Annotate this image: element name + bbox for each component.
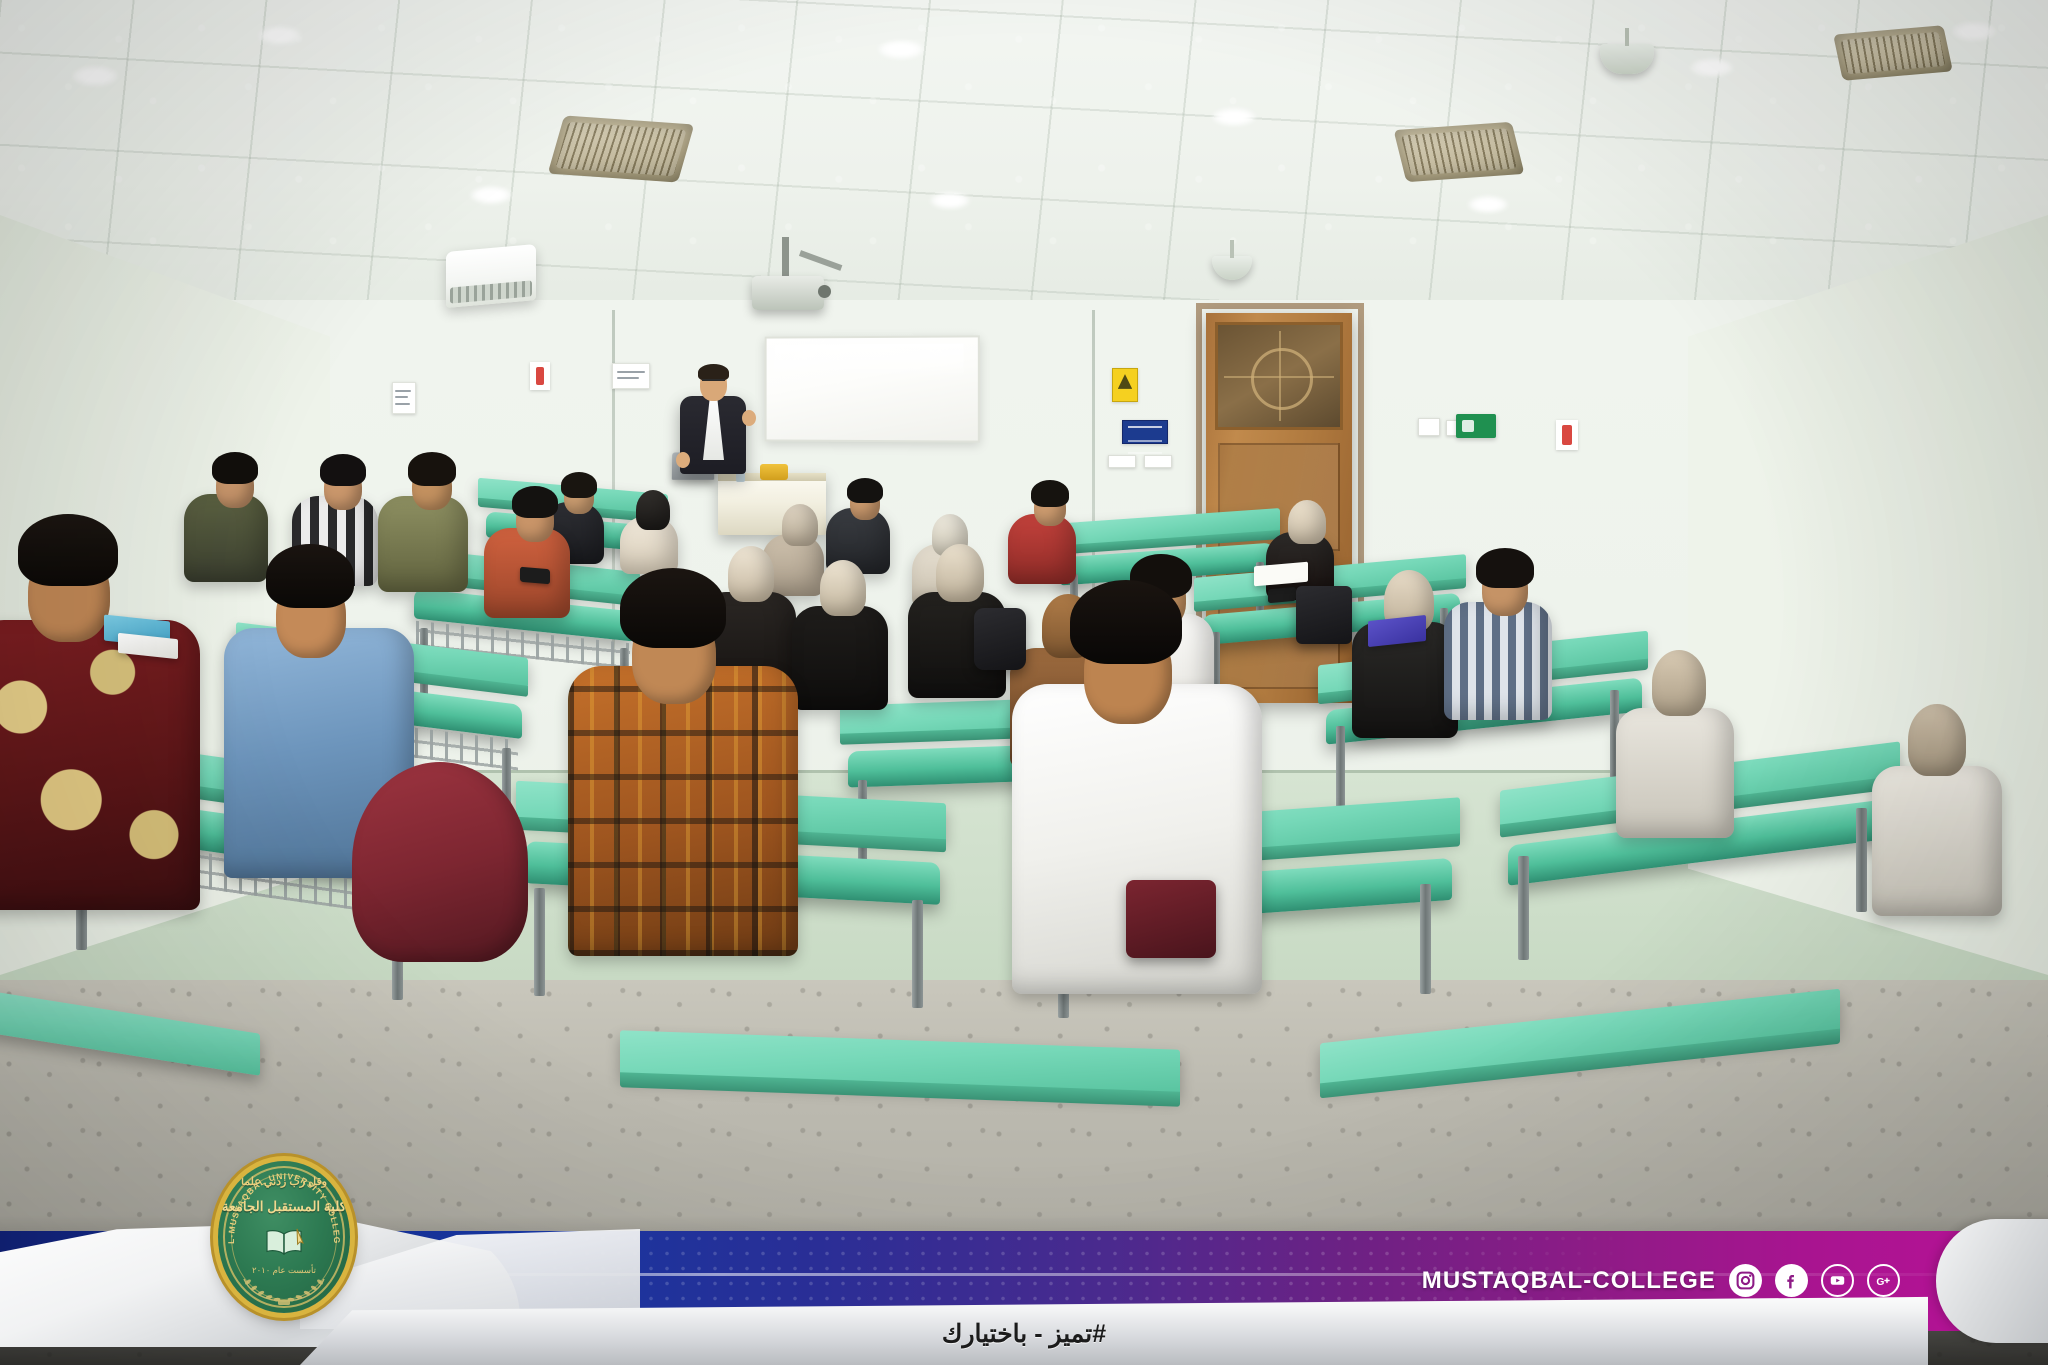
- ceiling-light: [1212, 108, 1256, 126]
- student-hair: [266, 544, 354, 608]
- wall-notice-left: [392, 382, 416, 414]
- exit-sign: [1456, 414, 1496, 438]
- student-hair: [320, 454, 366, 486]
- student-torso: [378, 496, 468, 592]
- lecture-hall-photo: [0, 0, 2048, 1365]
- floor-shadow: [0, 1215, 2048, 1365]
- ceiling-light: [930, 192, 970, 209]
- door-glass-bar: [1224, 376, 1334, 378]
- desk-leg: [1420, 884, 1431, 994]
- screenshot-root: كلية المستقبل الجامعة MUSTAQBAL-COLLEGE: [0, 0, 2048, 1365]
- student-hair: [620, 568, 726, 648]
- student-hair: [847, 478, 883, 503]
- student-hair: [1476, 548, 1534, 588]
- notice-line: [395, 390, 411, 392]
- notice-line: [617, 371, 645, 373]
- student-hair: [212, 452, 258, 484]
- door-glass-bar: [1279, 331, 1281, 421]
- student-hair: [1070, 580, 1182, 664]
- cups-tray: [760, 464, 788, 480]
- student-hijab: [1908, 704, 1966, 776]
- lecturer-glasses: [702, 379, 725, 384]
- student-hijab: [728, 546, 774, 602]
- student-hair: [408, 452, 456, 486]
- projector: [752, 276, 824, 310]
- fire-extinguisher-sign: [530, 362, 550, 390]
- student-torso: [792, 606, 888, 710]
- backpack: [974, 608, 1026, 670]
- fire-extinguisher-sign-right: [1556, 420, 1578, 450]
- ceiling-light: [878, 40, 924, 59]
- projector-mount: [782, 237, 789, 281]
- student-hair: [512, 486, 558, 518]
- projection-screen: [765, 335, 980, 442]
- door-glass-panel: [1215, 322, 1343, 430]
- info-plaque-blue: [1122, 420, 1168, 444]
- notice-line: [617, 377, 639, 379]
- phone-on-desk: [1268, 587, 1296, 603]
- student-hijab: [636, 490, 670, 530]
- notice-line: [395, 403, 410, 405]
- student-torso: [1872, 766, 2002, 916]
- wall-notice-center: [612, 363, 650, 389]
- handbag: [1296, 586, 1352, 644]
- student-hijab: [352, 762, 528, 962]
- ceiling-light: [1468, 196, 1508, 213]
- ceiling-light: [470, 186, 512, 204]
- student-torso: [568, 666, 798, 956]
- student-torso: [0, 620, 200, 910]
- light-switch[interactable]: [1418, 418, 1440, 436]
- ceiling-vent: [1394, 122, 1525, 182]
- ceiling-light: [1952, 22, 1996, 41]
- desk-leg: [1856, 808, 1867, 912]
- desk-leg: [912, 900, 923, 1008]
- student-torso: [1616, 708, 1734, 838]
- desk-leg: [1518, 856, 1529, 960]
- ceiling-texture: [0, 0, 2048, 330]
- desk-leg: [1336, 726, 1345, 814]
- ceiling-light: [258, 26, 302, 45]
- student-hijab: [1288, 500, 1326, 544]
- air-conditioner: [446, 244, 536, 308]
- lecturer-hand-right: [742, 410, 756, 426]
- student-torso: [1444, 602, 1552, 720]
- ceiling-vent: [548, 115, 695, 182]
- ceiling: [0, 0, 2048, 330]
- ceiling-light: [72, 66, 118, 86]
- wall-plate-a: [1108, 455, 1136, 468]
- desk-leg: [534, 888, 545, 996]
- student-hair: [1031, 480, 1069, 507]
- wall-plate-b: [1144, 455, 1172, 468]
- screen-glow: [774, 344, 963, 379]
- warning-sign-yellow: [1112, 368, 1138, 402]
- handbag: [1126, 880, 1216, 958]
- lecturer-hand-left: [676, 452, 690, 468]
- student-hair: [561, 472, 597, 498]
- notice-line: [395, 396, 408, 398]
- student-hijab: [936, 544, 984, 602]
- ceiling-light: [1690, 58, 1734, 77]
- phone-on-desk: [520, 567, 550, 585]
- student-torso: [184, 494, 268, 582]
- student-hijab: [820, 560, 866, 616]
- ceiling-vent: [1833, 25, 1953, 81]
- student-hijab: [1652, 650, 1706, 716]
- student-hair: [18, 514, 118, 586]
- student-hijab: [782, 504, 818, 546]
